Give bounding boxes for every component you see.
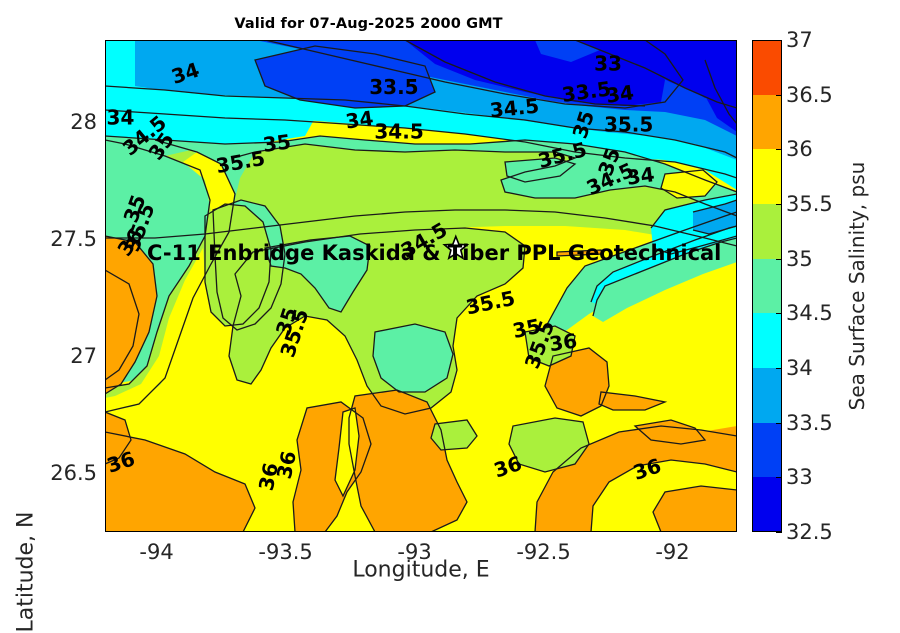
y-tick-3: 26.5 bbox=[50, 461, 97, 485]
colorbar-tick-0: 37 bbox=[786, 28, 813, 52]
contour-label-4: 33.5 bbox=[369, 75, 418, 99]
figure-root: Valid for 07-Aug-2025 2000 GMT bbox=[0, 0, 900, 600]
colorbar-label: Sea Surface Salinity, psu bbox=[845, 162, 869, 411]
contour-label-14: 35.5 bbox=[604, 112, 653, 136]
contour-label-1: 34 bbox=[107, 105, 135, 129]
colorbar-tick-9: 32.5 bbox=[786, 520, 833, 544]
colorbar-tickmark-5 bbox=[776, 313, 782, 314]
y-tick-1: 27.5 bbox=[50, 227, 97, 251]
colorbar[interactable] bbox=[752, 40, 782, 532]
colorbar-tickmark-7 bbox=[776, 423, 782, 424]
colorbar-tick-8: 33 bbox=[786, 465, 813, 489]
colorbar-tick-4: 35 bbox=[786, 247, 813, 271]
colorbar-tickmark-1 bbox=[776, 95, 782, 96]
colorbar-segment-8 bbox=[752, 477, 782, 532]
colorbar-segment-7 bbox=[752, 423, 782, 478]
colorbar-segment-6 bbox=[752, 368, 782, 423]
colorbar-tick-1: 36.5 bbox=[786, 83, 833, 107]
contour-label-9: 33 bbox=[594, 51, 622, 75]
site-annotation-label: C-11 Enbridge Kaskida & Tiber PPL Geotec… bbox=[147, 241, 721, 265]
contour-label-28: 36 bbox=[548, 329, 579, 357]
contour-plot-area[interactable]: 343434.53533.53434.53535.53333.53434.535… bbox=[105, 40, 737, 532]
contour-label-5: 34 bbox=[344, 106, 375, 134]
colorbar-tickmark-3 bbox=[776, 204, 782, 205]
colorbar-segment-2 bbox=[752, 149, 782, 204]
colorbar-tick-2: 36 bbox=[786, 137, 813, 161]
colorbar-tick-5: 34.5 bbox=[786, 301, 833, 325]
y-tick-0: 28 bbox=[70, 110, 97, 134]
colorbar-tickmark-2 bbox=[776, 149, 782, 150]
contour-label-12: 34.5 bbox=[489, 93, 541, 122]
colorbar-tickmark-6 bbox=[776, 368, 782, 369]
colorbar-tickmark-8 bbox=[776, 477, 782, 478]
contour-label-7: 35 bbox=[261, 129, 292, 157]
contour-label-18: 34 bbox=[625, 162, 656, 190]
contour-label-6: 34.5 bbox=[374, 119, 423, 143]
y-axis-label: Latitude, N bbox=[14, 512, 39, 633]
colorbar-segment-0 bbox=[752, 40, 782, 95]
colorbar-tick-6: 34 bbox=[786, 356, 813, 380]
colorbar-segment-5 bbox=[752, 313, 782, 368]
colorbar-tickmark-9 bbox=[776, 532, 782, 533]
colorbar-tick-3: 35.5 bbox=[786, 192, 833, 216]
contour-label-11: 34 bbox=[604, 80, 635, 108]
colorbar-tick-7: 33.5 bbox=[786, 411, 833, 435]
colorbar-segment-3 bbox=[752, 204, 782, 259]
colorbar-segment-4 bbox=[752, 259, 782, 314]
colorbar-segment-1 bbox=[752, 95, 782, 150]
colorbar-tickmark-4 bbox=[776, 259, 782, 260]
figure-title: Valid for 07-Aug-2025 2000 GMT bbox=[0, 16, 737, 32]
contour-plot-svg[interactable]: 343434.53533.53434.53535.53333.53434.535… bbox=[105, 40, 737, 532]
x-axis-label: Longitude, E bbox=[105, 558, 737, 583]
y-tick-2: 27 bbox=[70, 344, 97, 368]
